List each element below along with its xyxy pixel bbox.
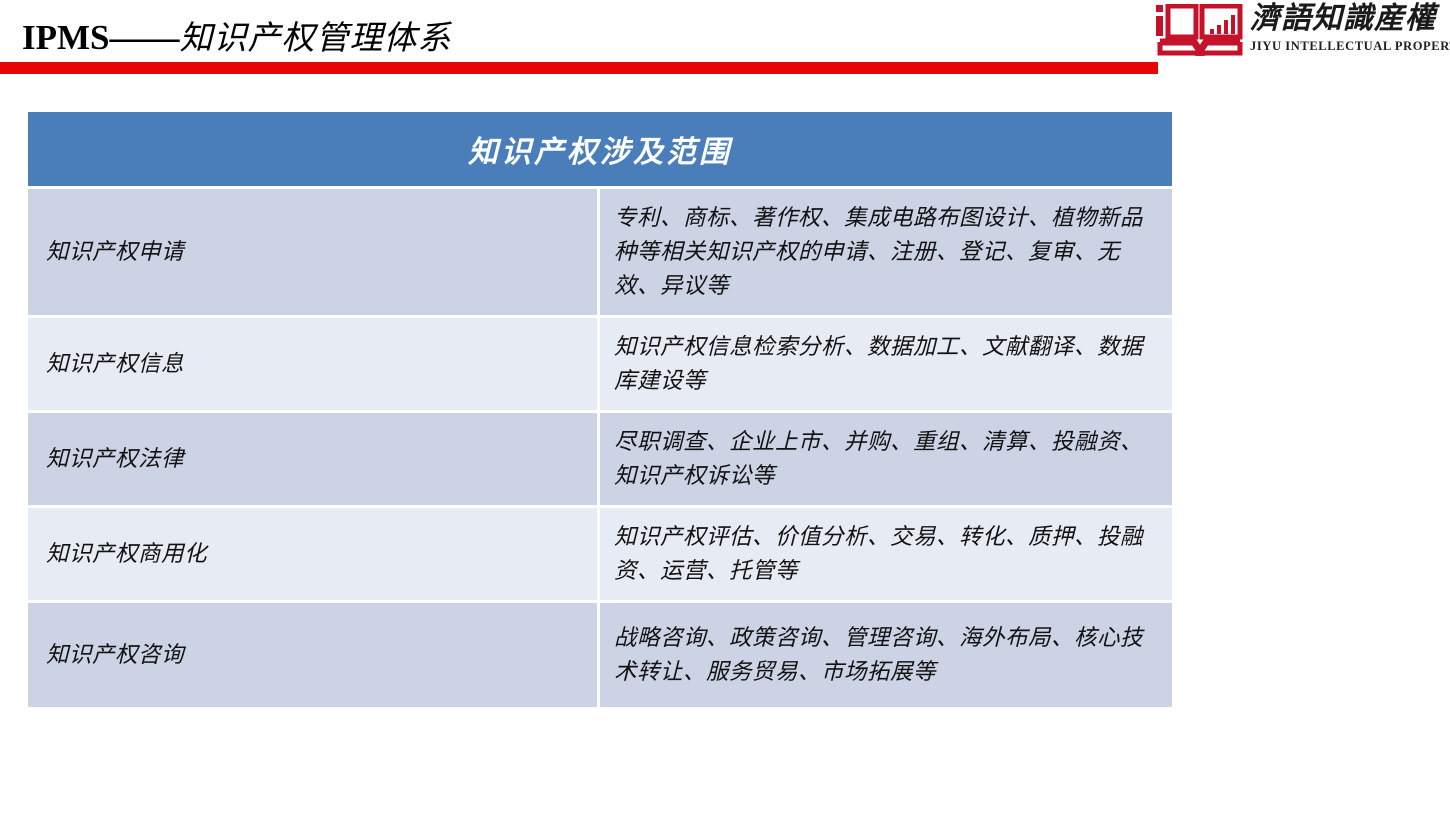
brand-logo: 濟語知識産權 JIYU INTELLECTUAL PROPERTY <box>1146 1 1448 59</box>
page-title-latin: IPMS—— <box>22 18 180 57</box>
row-category: 知识产权法律 <box>28 410 600 505</box>
table-row: 知识产权申请 专利、商标、著作权、集成电路布图设计、植物新品种等相关知识产权的申… <box>28 186 1172 315</box>
table-row: 知识产权商用化 知识产权评估、价值分析、交易、转化、质押、投融资、运营、托管等 <box>28 505 1172 600</box>
brand-names: 濟語知識産權 JIYU INTELLECTUAL PROPERTY <box>1250 1 1446 54</box>
row-description: 战略咨询、政策咨询、管理咨询、海外布局、核心技术转让、服务贸易、市场拓展等 <box>600 600 1172 707</box>
row-description: 尽职调查、企业上市、并购、重组、清算、投融资、知识产权诉讼等 <box>600 410 1172 505</box>
table-body: 知识产权申请 专利、商标、著作权、集成电路布图设计、植物新品种等相关知识产权的申… <box>28 186 1172 707</box>
row-category: 知识产权商用化 <box>28 505 600 600</box>
row-description: 知识产权信息检索分析、数据加工、文献翻译、数据库建设等 <box>600 315 1172 410</box>
table-row: 知识产权信息 知识产权信息检索分析、数据加工、文献翻译、数据库建设等 <box>28 315 1172 410</box>
row-category: 知识产权申请 <box>28 186 600 315</box>
page-title-cjk: 知识产权管理体系 <box>180 18 452 57</box>
open-book-bar-chart-logo-icon <box>1154 4 1246 56</box>
ip-scope-table: 知识产权涉及范围 知识产权申请 专利、商标、著作权、集成电路布图设计、植物新品种… <box>28 112 1172 707</box>
table-row: 知识产权咨询 战略咨询、政策咨询、管理咨询、海外布局、核心技术转让、服务贸易、市… <box>28 600 1172 707</box>
title-underline-rule <box>0 62 1158 74</box>
brand-name-latin: JIYU INTELLECTUAL PROPERTY <box>1250 38 1446 54</box>
page-title: IPMS——知识产权管理体系 <box>22 16 452 60</box>
row-description: 知识产权评估、价值分析、交易、转化、质押、投融资、运营、托管等 <box>600 505 1172 600</box>
row-category: 知识产权信息 <box>28 315 600 410</box>
table-head: 知识产权涉及范围 <box>28 112 1172 186</box>
table-row: 知识产权法律 尽职调查、企业上市、并购、重组、清算、投融资、知识产权诉讼等 <box>28 410 1172 505</box>
table-header-row: 知识产权涉及范围 <box>28 112 1172 186</box>
table-title-cell: 知识产权涉及范围 <box>28 112 1172 186</box>
row-description: 专利、商标、著作权、集成电路布图设计、植物新品种等相关知识产权的申请、注册、登记… <box>600 186 1172 315</box>
slide-header: IPMS——知识产权管理体系 濟語知識 <box>0 0 1450 80</box>
brand-name-cjk: 濟語知識産權 <box>1250 1 1446 37</box>
row-category: 知识产权咨询 <box>28 600 600 707</box>
